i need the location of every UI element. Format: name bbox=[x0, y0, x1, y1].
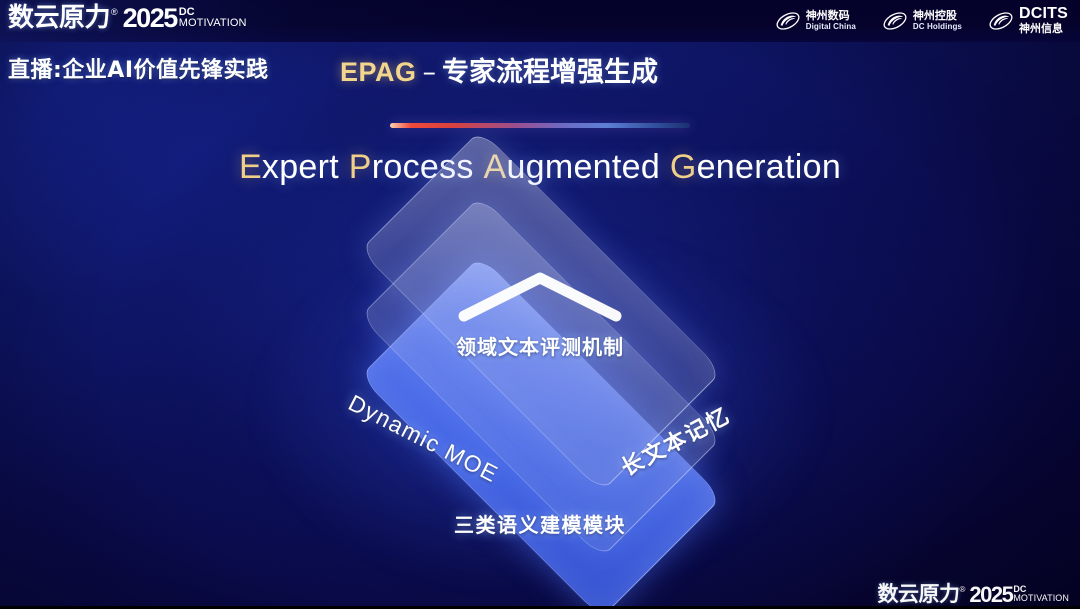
title-dash: – bbox=[417, 57, 443, 88]
subtitle-cap-p: P bbox=[349, 148, 372, 186]
partner-name-cn: 神州控股 bbox=[913, 10, 962, 23]
partner-name-cn: 神州信息 bbox=[1019, 23, 1068, 36]
footer-brand-dc-block: DC MOTIVATION bbox=[1013, 585, 1069, 603]
page-title: EPAG–专家流程增强生成 bbox=[340, 56, 658, 89]
swoosh-logo-icon bbox=[988, 8, 1014, 34]
title-acronym: EPAG bbox=[340, 57, 417, 87]
title-chinese: 专家流程增强生成 bbox=[442, 57, 658, 88]
subtitle-rest-expert: xpert bbox=[262, 148, 339, 186]
footer-brand-motivation: MOTIVATION bbox=[1013, 594, 1069, 603]
partner-logo-group: 神州数码 Digital China 神州控股 DC Holdings bbox=[775, 6, 1068, 35]
gradient-divider bbox=[390, 123, 690, 128]
brand-logo: 数云原力 ® 2025 DC MOTIVATION bbox=[8, 4, 248, 31]
partner-name-en: DCITS bbox=[1019, 6, 1068, 23]
subtitle-cap-e: E bbox=[239, 148, 262, 186]
partner-logo-dcits: DCITS 神州信息 bbox=[988, 6, 1068, 35]
swoosh-logo-icon bbox=[775, 8, 801, 34]
partner-logo-digital-china: 神州数码 Digital China bbox=[775, 8, 856, 34]
brand-logo-year: 2025 bbox=[123, 5, 177, 32]
partner-logo-digital-china-text: 神州数码 Digital China bbox=[806, 10, 856, 32]
layered-architecture-diagram: 领域文本评测机制 Dynamic MOE 长文本记忆 三类语义建模模块 bbox=[276, 228, 804, 568]
swoosh-logo-icon bbox=[882, 8, 908, 34]
footer-brand-chinese: 数云原力 bbox=[877, 584, 959, 605]
subtitle-cap-g: G bbox=[670, 148, 697, 186]
subtitle-rest-generation: eneration bbox=[697, 148, 841, 186]
brand-logo-motivation: MOTIVATION bbox=[179, 18, 247, 29]
brand-logo-chinese: 数云原力 bbox=[8, 5, 110, 31]
partner-name-en: Digital China bbox=[806, 22, 856, 31]
footer-brand-year: 2025 bbox=[969, 584, 1012, 606]
partner-logo-dc-holdings-text: 神州控股 DC Holdings bbox=[913, 10, 962, 32]
brand-logo-dc-block: DC MOTIVATION bbox=[179, 7, 247, 29]
live-session-label: 直播:企业AI价值先锋实践 bbox=[8, 52, 269, 84]
partner-name-en: DC Holdings bbox=[913, 22, 962, 31]
brand-registered-mark: ® bbox=[111, 7, 118, 17]
page-subtitle: Expert Process Augmented Generation bbox=[0, 148, 1080, 187]
partner-logo-dcits-text: DCITS 神州信息 bbox=[1019, 6, 1068, 35]
footer-brand-registered-mark: ® bbox=[959, 585, 965, 594]
presentation-slide: 数云原力 ® 2025 DC MOTIVATION 神州数码 Digital C… bbox=[0, 0, 1080, 609]
partner-name-cn: 神州数码 bbox=[806, 10, 856, 23]
partner-logo-dc-holdings: 神州控股 DC Holdings bbox=[882, 8, 962, 34]
footer-brand-watermark: 数云原力 ® 2025 DC MOTIVATION bbox=[877, 583, 1070, 605]
